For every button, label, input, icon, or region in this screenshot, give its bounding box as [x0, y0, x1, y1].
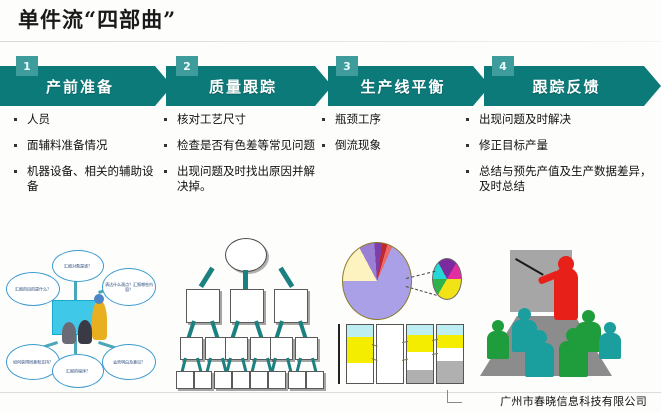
- audience-body: [559, 341, 588, 377]
- tree-node: [268, 371, 286, 389]
- bar-segment-gray: [407, 370, 433, 383]
- bullet-item: 出现问题及时解决: [462, 112, 657, 127]
- bar-segment-cyan: [347, 325, 373, 337]
- illustration-row: 汇报的目的是什么？ 汇报对象是谁？ 表达什么观点？汇报哪些内容？ 如何获得同意和…: [0, 236, 661, 396]
- bar-column: [376, 324, 404, 384]
- presentation-illustration: [470, 236, 630, 394]
- process-step-1-number: 1: [16, 56, 38, 76]
- bar-segment-gray: [437, 361, 463, 383]
- bullet-item: 核对工艺尺寸: [160, 112, 320, 127]
- mindmap-bubble-text: 汇报对象是谁？: [53, 264, 103, 269]
- bullet-columns: 人员 面辅料准备情况 机器设备、相关的辅助设备 核对工艺尺寸 检查是否有色差等常…: [0, 112, 661, 237]
- bullet-column-2: 核对工艺尺寸 检查是否有色差等常见问题 出现问题及时找出原因并解决掉。: [160, 112, 320, 205]
- bar-segment-cyan: [437, 325, 463, 335]
- bar-column: [406, 324, 434, 384]
- bar-segment-cyan: [377, 325, 403, 334]
- pie-of-pie-chart: [336, 236, 462, 322]
- audience-body: [599, 333, 621, 359]
- bar-segment-white: [377, 334, 403, 357]
- tree-node: [232, 371, 250, 389]
- bullet-item: 倒流现象: [318, 138, 458, 153]
- mindmap-bubble: 汇报对象是谁？: [52, 250, 104, 282]
- bullet-item: 机器设备、相关的辅助设备: [10, 164, 160, 194]
- bullet-item: 出现问题及时找出原因并解决掉。: [160, 164, 320, 194]
- bullet-item: 面辅料准备情况: [10, 138, 160, 153]
- bullet-item: 总结与预先产值及生产数据差异，及时总结: [462, 164, 657, 194]
- tree-node: [214, 371, 232, 389]
- process-step-3-number: 3: [336, 56, 358, 76]
- presenter-figure: [92, 300, 107, 340]
- bar-segment-yellow: [407, 335, 433, 351]
- slide-canvas: 单件流“四部曲” 产前准备 1 质量跟踪 2 生产线平衡 3 跟踪反馈 4 人员…: [0, 0, 661, 412]
- stacked-bar-chart: [338, 324, 464, 386]
- mindmap-bubble-text: 如何获得同意和支持？: [7, 360, 59, 365]
- mindmap-bubble-text: 表达什么观点？汇报哪些内容？: [103, 282, 155, 292]
- presenter-head: [94, 294, 104, 304]
- bar-segment-cyan: [407, 325, 433, 335]
- bar-segment-yellow: [347, 337, 373, 364]
- process-step-2-label: 质量跟踪: [209, 76, 277, 97]
- tree-node: [288, 371, 306, 389]
- footer-corner-mark: [447, 390, 462, 403]
- mindmap-bubble-text: 会否明白及意见？: [103, 360, 155, 365]
- mindmap-bubble: 表达什么观点？汇报哪些内容？: [102, 268, 156, 306]
- bar-column: [346, 324, 374, 384]
- bar-segment-yellow: [437, 335, 463, 348]
- bar-segment-white: [407, 352, 433, 371]
- mindmap-bubble: 汇报的程序？: [52, 354, 104, 388]
- tree-node: [250, 371, 268, 389]
- tree-node: [194, 371, 212, 389]
- process-step-3-label: 生产线平衡: [360, 76, 445, 97]
- page-title: 单件流“四部曲”: [18, 4, 176, 34]
- tree-node: [186, 289, 220, 323]
- bullet-item: 人员: [10, 112, 160, 127]
- bar-chart-axis: [338, 324, 340, 384]
- mindmap-bubble-text: 汇报的程序？: [53, 369, 103, 374]
- bar-segment-white: [347, 363, 373, 383]
- bullet-column-3: 瓶颈工序 倒流现象: [318, 112, 458, 164]
- audience-figure: [62, 322, 76, 344]
- tree-node: [230, 289, 264, 323]
- bullet-item: 修正目标产量: [462, 138, 657, 153]
- secondary-pie: [432, 258, 462, 300]
- audience-body: [525, 343, 554, 377]
- presenter-head: [558, 256, 574, 272]
- bullet-column-4: 出现问题及时解决 修正目标产量 总结与预先产值及生产数据差异，及时总结: [462, 112, 657, 205]
- bar-column: [436, 324, 464, 384]
- mind-map-illustration: 汇报的目的是什么？ 汇报对象是谁？ 表达什么观点？汇报哪些内容？ 如何获得同意和…: [4, 240, 156, 388]
- bar-segment-white: [437, 348, 463, 361]
- process-step-4-number: 4: [492, 56, 514, 76]
- primary-pie: [342, 242, 412, 320]
- audience-body: [487, 331, 509, 359]
- mindmap-bubble: 会否明白及意见？: [102, 344, 156, 380]
- title-divider: [0, 41, 661, 42]
- mindmap-bubble: 汇报的目的是什么？: [6, 272, 60, 306]
- audience-figure: [78, 320, 92, 344]
- bar-segment-gray: [377, 357, 403, 383]
- bullet-item: 瓶颈工序: [318, 112, 458, 127]
- tree-node: [176, 371, 194, 389]
- mindmap-bubble-text: 汇报的目的是什么？: [7, 287, 59, 292]
- bullet-column-1: 人员 面辅料准备情况 机器设备、相关的辅助设备: [10, 112, 160, 205]
- process-chevron-bar: 产前准备 1 质量跟踪 2 生产线平衡 3 跟踪反馈 4: [0, 56, 661, 106]
- tree-node: [274, 289, 308, 323]
- footer-company: 广州市春晓信息科技有限公司: [500, 393, 647, 409]
- tree-node: [306, 371, 324, 389]
- process-step-4-label: 跟踪反馈: [532, 76, 600, 97]
- process-step-1-label: 产前准备: [46, 76, 114, 97]
- process-step-2-number: 2: [176, 56, 198, 76]
- org-tree-diagram: [170, 236, 320, 394]
- bullet-item: 检查是否有色差等常见问题: [160, 138, 320, 153]
- tree-root-node: [225, 238, 267, 272]
